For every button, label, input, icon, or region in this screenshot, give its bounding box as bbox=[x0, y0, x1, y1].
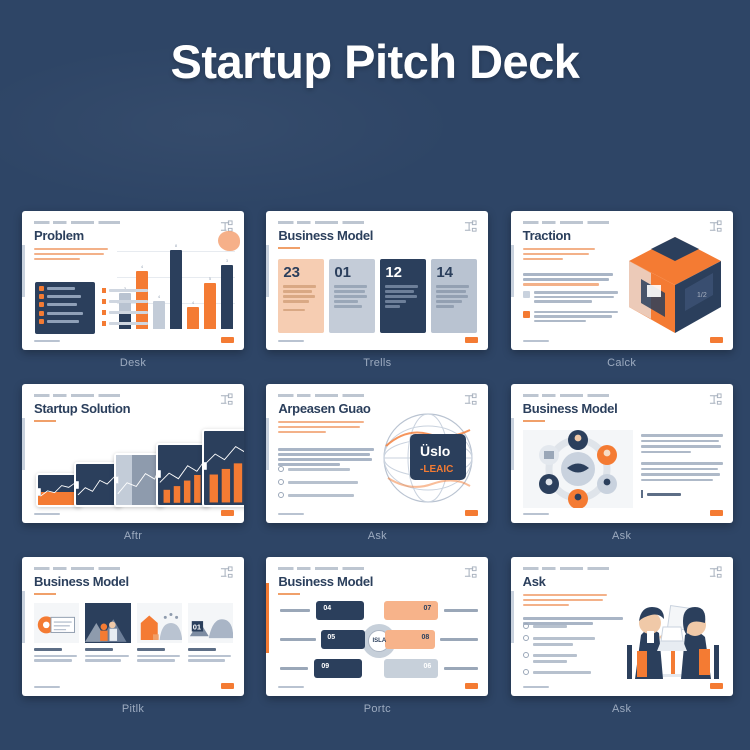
slide-title: Startup Solution bbox=[34, 402, 233, 416]
eyebrow-line bbox=[523, 394, 609, 397]
footer-chip bbox=[221, 337, 234, 343]
feature-card bbox=[85, 603, 130, 683]
slide-caption: Aftr bbox=[14, 530, 252, 542]
footer-chip bbox=[221, 510, 234, 516]
sub-copy bbox=[278, 448, 376, 468]
pill-value: 08 bbox=[422, 634, 430, 641]
logo-mark-icon bbox=[219, 566, 234, 579]
slide-thumbnail-business-model-cards[interactable]: Business Model 23 bbox=[266, 211, 488, 350]
checklist-panel bbox=[35, 282, 95, 334]
footer-chip bbox=[465, 510, 478, 516]
stat-number: 01 bbox=[334, 265, 370, 280]
title-rule bbox=[523, 420, 545, 422]
slide-cell-6[interactable]: Business Model bbox=[503, 378, 740, 551]
feature-title-bar bbox=[85, 648, 113, 651]
body-copy-right bbox=[641, 434, 723, 498]
slide-cell-4[interactable]: Startup Solution bbox=[14, 378, 251, 551]
pill-left: 09 bbox=[314, 659, 362, 678]
slide-caption: Desk bbox=[14, 357, 252, 369]
split-pill-diagram: ISLA 04 07 bbox=[280, 601, 478, 681]
logo-mark-icon bbox=[708, 220, 723, 233]
hub-network-diagram bbox=[523, 430, 633, 508]
footer-bar bbox=[523, 513, 549, 516]
eyebrow-line bbox=[278, 221, 364, 224]
slide-cell-7[interactable]: Business Model bbox=[14, 551, 251, 724]
logo-mark-icon bbox=[463, 566, 478, 579]
feature-thumb-team bbox=[85, 603, 130, 643]
slide-cell-1[interactable]: Problem bbox=[14, 205, 251, 378]
title-rule bbox=[278, 593, 300, 595]
meeting-illustration bbox=[617, 575, 729, 687]
stat-cards: 23 01 bbox=[278, 259, 477, 333]
footer-bar bbox=[523, 340, 549, 343]
title-rule bbox=[34, 593, 56, 595]
slide-cell-5[interactable]: Arpeasen Guao bbox=[258, 378, 495, 551]
eyebrow-line bbox=[278, 567, 364, 570]
pill-right: 08 bbox=[385, 630, 435, 649]
pill-value: 04 bbox=[323, 605, 331, 612]
logo-mark-icon bbox=[219, 393, 234, 406]
globe-icon: Üslo -LEAIC bbox=[376, 408, 480, 508]
stat-number: 14 bbox=[436, 265, 472, 280]
chart-card bbox=[202, 429, 244, 507]
footer-chip bbox=[710, 683, 723, 689]
slide-caption: Ask bbox=[258, 530, 496, 542]
slide-caption: Trells bbox=[258, 357, 496, 369]
eyebrow-line bbox=[34, 394, 120, 397]
feature-title-bar bbox=[137, 648, 165, 651]
slide-thumbnail-ask[interactable]: Ask bbox=[511, 557, 733, 696]
pill-value: 05 bbox=[327, 634, 335, 641]
slide-thumbnail-problem[interactable]: Problem bbox=[22, 211, 244, 350]
title-rule bbox=[278, 247, 300, 249]
feature-cards: 01 bbox=[34, 603, 233, 683]
sub-copy bbox=[523, 273, 615, 288]
slide-thumbnail-global-reach[interactable]: Arpeasen Guao bbox=[266, 384, 488, 523]
slide-title: Business Model bbox=[34, 575, 233, 589]
slide-caption: Calck bbox=[503, 357, 741, 369]
slide-grid: Problem bbox=[14, 205, 740, 724]
footer-bar bbox=[34, 686, 60, 689]
feature-thumb-mountain: 01 bbox=[188, 603, 233, 643]
feature-title-bar bbox=[34, 648, 62, 651]
svg-text:1/2: 1/2 bbox=[697, 292, 707, 299]
checkbox-icon bbox=[523, 623, 529, 629]
pill-left: 04 bbox=[316, 601, 364, 620]
checkbox-icon bbox=[278, 466, 284, 472]
feature-card bbox=[137, 603, 182, 683]
checklist bbox=[523, 623, 609, 682]
slide-title: Business Model bbox=[523, 402, 722, 416]
eyebrow-line bbox=[523, 567, 609, 570]
slide-title: Business Model bbox=[278, 575, 477, 589]
slide-thumbnail-business-model-split[interactable]: Business Model ISLA 04 bbox=[266, 557, 488, 696]
logo-mark-icon bbox=[463, 220, 478, 233]
pill-value: 07 bbox=[424, 605, 432, 612]
globe-label-secondary: -LEAIC bbox=[420, 464, 453, 475]
pitch-deck-page: Startup Pitch Deck Problem bbox=[0, 0, 750, 750]
eyebrow-line bbox=[34, 567, 120, 570]
pill-value: 06 bbox=[424, 663, 432, 670]
feature-card bbox=[34, 603, 79, 683]
checkbox-icon bbox=[278, 479, 284, 485]
slide-thumbnail-business-model-features[interactable]: Business Model bbox=[22, 557, 244, 696]
isometric-cube-icon: 1/2 bbox=[621, 233, 729, 337]
stat-number: 12 bbox=[385, 265, 421, 280]
title-rule bbox=[34, 420, 56, 422]
slide-cell-2[interactable]: Business Model 23 bbox=[258, 205, 495, 378]
page-title: Startup Pitch Deck bbox=[0, 34, 750, 89]
checkbox-icon bbox=[523, 635, 529, 641]
stat-card: 14 bbox=[431, 259, 477, 333]
footer-chip bbox=[710, 510, 723, 516]
globe-label-primary: Üslo bbox=[420, 443, 450, 459]
slide-caption: Portc bbox=[258, 703, 496, 715]
pill-value: 09 bbox=[321, 663, 329, 670]
center-label: ISLA bbox=[372, 638, 386, 644]
stat-card: 01 bbox=[329, 259, 375, 333]
feature-title-bar bbox=[188, 648, 216, 651]
checkbox-icon bbox=[523, 669, 529, 675]
pill-left: 05 bbox=[321, 630, 365, 649]
slide-caption: Pitlk bbox=[14, 703, 252, 715]
checkbox-icon bbox=[523, 652, 529, 658]
footer-chip bbox=[221, 683, 234, 689]
feature-card: 01 bbox=[188, 603, 233, 683]
footer-bar bbox=[278, 686, 304, 689]
footer-bar bbox=[278, 513, 304, 516]
footer-bar bbox=[523, 686, 549, 689]
bullet-list bbox=[523, 291, 615, 330]
footer-bar bbox=[278, 340, 304, 343]
eyebrow-line bbox=[523, 221, 609, 224]
feature-thumb-buildings bbox=[137, 603, 182, 643]
slide-thumbnail-business-model-hub[interactable]: Business Model bbox=[511, 384, 733, 523]
footer-bar bbox=[34, 340, 60, 343]
eyebrow-line bbox=[34, 221, 120, 224]
slide-cell-9[interactable]: Ask bbox=[503, 551, 740, 724]
eyebrow-line bbox=[278, 394, 364, 397]
footer-chip bbox=[465, 683, 478, 689]
slide-thumbnail-startup-solution[interactable]: Startup Solution bbox=[22, 384, 244, 523]
checklist bbox=[278, 466, 374, 505]
slide-cell-3[interactable]: Traction bbox=[503, 205, 740, 378]
footer-bar bbox=[34, 513, 60, 516]
stat-card: 12 bbox=[380, 259, 426, 333]
slide-caption: Ask bbox=[503, 530, 741, 542]
svg-text:01: 01 bbox=[192, 623, 200, 632]
pill-right: 06 bbox=[384, 659, 438, 678]
cascading-chart-cards bbox=[30, 425, 238, 507]
slide-cell-8[interactable]: Business Model ISLA 04 bbox=[258, 551, 495, 724]
stat-card: 23 bbox=[278, 259, 324, 333]
slide-title: Business Model bbox=[278, 229, 477, 243]
footer-chip bbox=[710, 337, 723, 343]
logo-mark-icon bbox=[463, 393, 478, 406]
slide-caption: Ask bbox=[503, 703, 741, 715]
pill-right: 07 bbox=[384, 601, 438, 620]
footer-chip bbox=[465, 337, 478, 343]
logo-mark-icon bbox=[708, 393, 723, 406]
feature-thumb-gear-laptop bbox=[34, 603, 79, 643]
slide-thumbnail-traction[interactable]: Traction bbox=[511, 211, 733, 350]
stat-number: 23 bbox=[283, 265, 319, 280]
checklist-labels bbox=[102, 288, 148, 332]
checkbox-icon bbox=[278, 492, 284, 498]
